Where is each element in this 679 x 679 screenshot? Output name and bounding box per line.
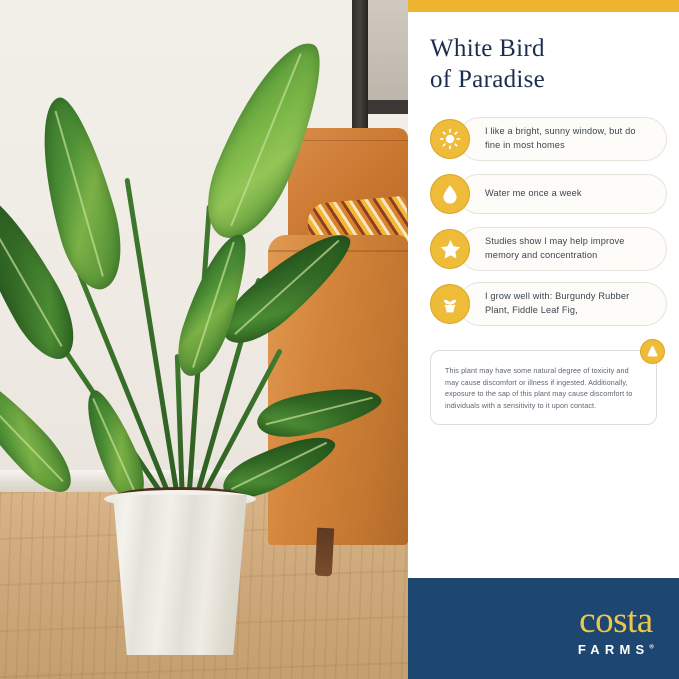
warning-box: This plant may have some natural degree … — [430, 350, 657, 425]
title-line-1: White Bird — [430, 35, 545, 62]
door-panel-shadow — [368, 100, 408, 114]
product-photo — [0, 0, 408, 679]
title-line-2: of Paradise — [430, 66, 545, 93]
gold-accent-bar — [408, 0, 679, 12]
warning-triangle-icon — [640, 339, 665, 364]
logo-wordmark-primary: costa — [573, 602, 659, 639]
feature-item-companion: I grow well with: Burgundy Rubber Plant,… — [430, 282, 667, 326]
feature-item-benefit: Studies show I may help improve memory a… — [430, 227, 667, 271]
product-info-card: White Bird of Paradise — [0, 0, 679, 679]
feature-text: I like a bright, sunny window, but do fi… — [458, 117, 667, 161]
costa-farms-logo: costa FARMS® — [573, 602, 659, 656]
sofa-seam — [296, 140, 408, 141]
feature-text: Studies show I may help improve memory a… — [458, 227, 667, 271]
feature-text: Water me once a week — [458, 174, 667, 214]
sofa-leg — [315, 528, 334, 577]
feature-item-light: I like a bright, sunny window, but do fi… — [430, 117, 667, 161]
toxicity-warning: This plant may have some natural degree … — [430, 350, 657, 425]
info-body: White Bird of Paradise — [408, 12, 679, 578]
logo-wordmark-secondary: FARMS® — [573, 643, 659, 656]
feature-list: I like a bright, sunny window, but do fi… — [430, 117, 667, 326]
logo-farms-text: FARMS — [578, 642, 650, 657]
water-drop-icon — [430, 174, 470, 214]
potted-plant-icon — [430, 284, 470, 324]
sun-icon — [430, 119, 470, 159]
info-panel: White Bird of Paradise — [408, 0, 679, 679]
feature-item-water: Water me once a week — [430, 172, 667, 216]
door-panel — [368, 0, 408, 100]
registered-mark-icon: ® — [649, 644, 659, 650]
plant-pot — [104, 495, 256, 655]
warning-text: This plant may have some natural degree … — [445, 365, 642, 412]
page-title: White Bird of Paradise — [430, 34, 667, 95]
feature-text: I grow well with: Burgundy Rubber Plant,… — [458, 282, 667, 326]
brand-footer: costa FARMS® — [408, 578, 679, 679]
star-icon — [430, 229, 470, 269]
